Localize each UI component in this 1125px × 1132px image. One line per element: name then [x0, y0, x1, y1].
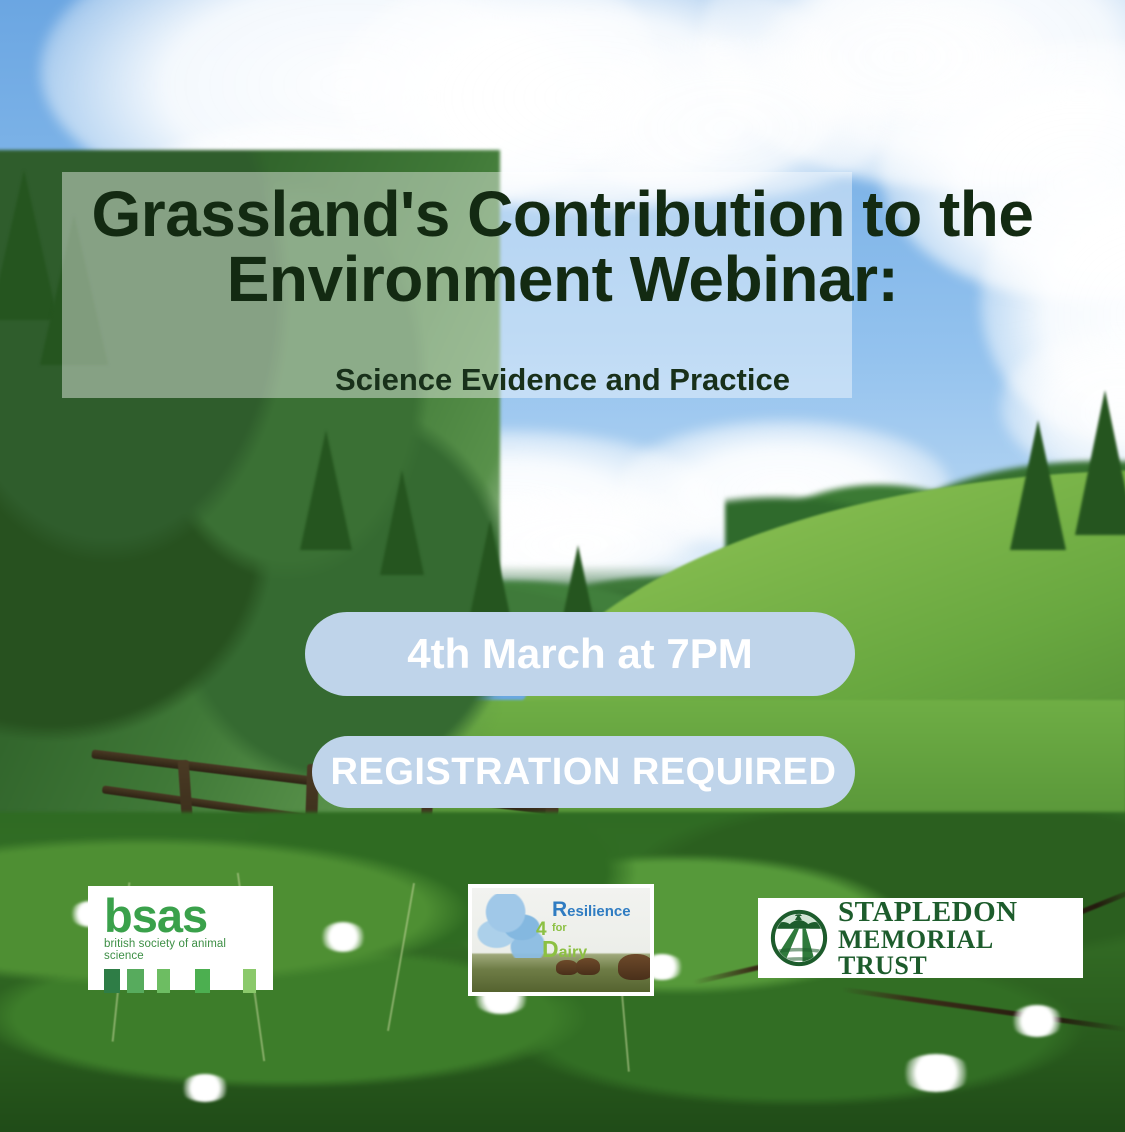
- stapledon-memorial-trust-logo: STAPLEDON MEMORIAL TRUST: [758, 898, 1083, 978]
- registration-badge[interactable]: REGISTRATION REQUIRED: [312, 736, 855, 808]
- resilience4dairy-logo: Resilience 4 for Dairy: [468, 884, 654, 996]
- bsas-tagline: british society of animal science: [104, 938, 263, 962]
- conifer-tree: [1010, 420, 1066, 550]
- bsas-bar: [243, 969, 256, 993]
- bsas-bar: [127, 969, 143, 993]
- cow-parsley-flower: [320, 922, 366, 952]
- page-title: Grassland's Contribution to the Environm…: [0, 182, 1125, 313]
- r4d-artwork: Resilience 4 for Dairy: [472, 888, 650, 992]
- cow-parsley-flower: [1010, 1005, 1064, 1037]
- date-time-label: 4th March at 7PM: [407, 630, 752, 678]
- bsas-bar: [104, 969, 120, 993]
- conifer-tree: [470, 520, 510, 615]
- r4d-resilience-text: Resilience: [552, 898, 631, 922]
- cow-figure: [576, 958, 600, 975]
- stapledon-field-emblem: [770, 909, 828, 967]
- stapledon-line1: STAPLEDON: [838, 898, 1083, 927]
- bsas-colour-bars: [104, 967, 263, 993]
- stapledon-wordmark: STAPLEDON MEMORIAL TRUST: [838, 898, 1083, 979]
- date-time-badge: 4th March at 7PM: [305, 612, 855, 696]
- r4d-for: for: [552, 922, 567, 934]
- bsas-logo: bsas british society of animal science: [88, 886, 273, 990]
- conifer-tree: [1075, 390, 1125, 535]
- conifer-tree: [300, 430, 352, 550]
- webinar-poster: Grassland's Contribution to the Environm…: [0, 0, 1125, 1132]
- stapledon-line2: MEMORIAL TRUST: [838, 927, 1083, 979]
- cow-parsley-flower: [900, 1054, 972, 1092]
- registration-label: REGISTRATION REQUIRED: [331, 751, 837, 794]
- bsas-bar: [195, 969, 210, 993]
- r4d-resilience-initial: R: [552, 898, 567, 921]
- cow-figure: [618, 954, 650, 980]
- cow-figure: [556, 960, 578, 975]
- r4d-resilience-rest: esilience: [567, 903, 630, 920]
- r4d-dairy-initial: D: [542, 936, 559, 962]
- bsas-bar: [157, 969, 170, 993]
- bsas-wordmark: bsas: [104, 894, 263, 937]
- conifer-tree: [380, 470, 424, 575]
- cow-parsley-flower: [180, 1074, 230, 1102]
- page-subtitle: Science Evidence and Practice: [0, 362, 1125, 398]
